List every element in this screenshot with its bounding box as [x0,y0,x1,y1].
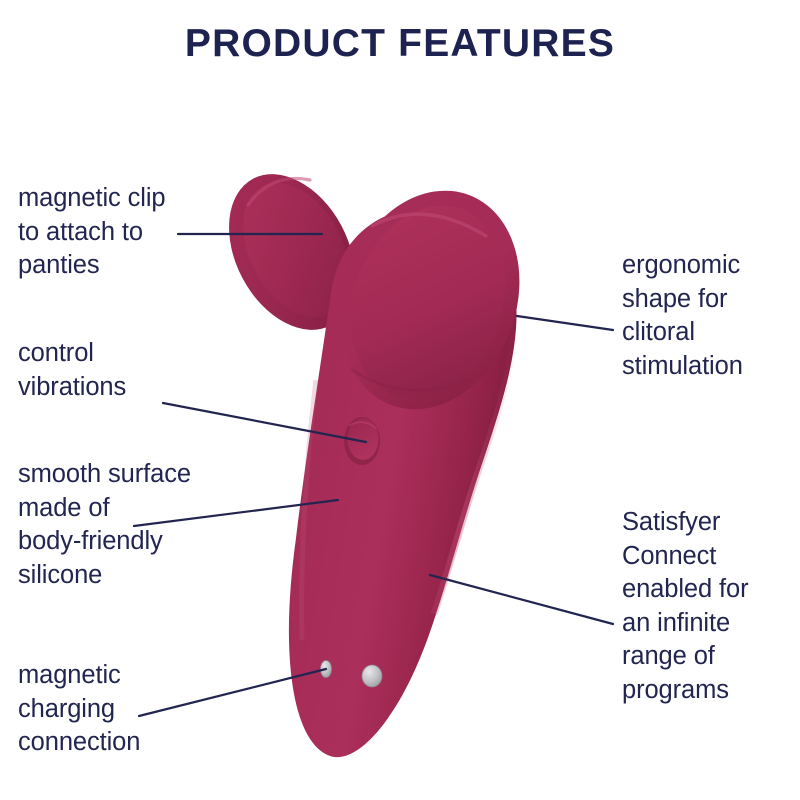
callout-magnetic-charging: magnetic charging connection [18,659,228,760]
callout-magnetic-clip: magnetic clip to attach to panties [18,182,218,283]
callout-smooth-surface: smooth surface made of body-friendly sil… [18,458,248,592]
callout-satisfyer-connect: Satisfyer Connect enabled for an infinit… [622,506,800,707]
callout-control-vibrations: control vibrations [18,337,198,404]
control-button[interactable] [344,417,380,465]
callout-ergonomic-shape: ergonomic shape for clitoral stimulation [622,249,800,383]
charging-contact-large [362,665,382,687]
charging-contact-small [321,661,332,678]
product-features-infographic: PRODUCT FEATURES [0,0,800,800]
